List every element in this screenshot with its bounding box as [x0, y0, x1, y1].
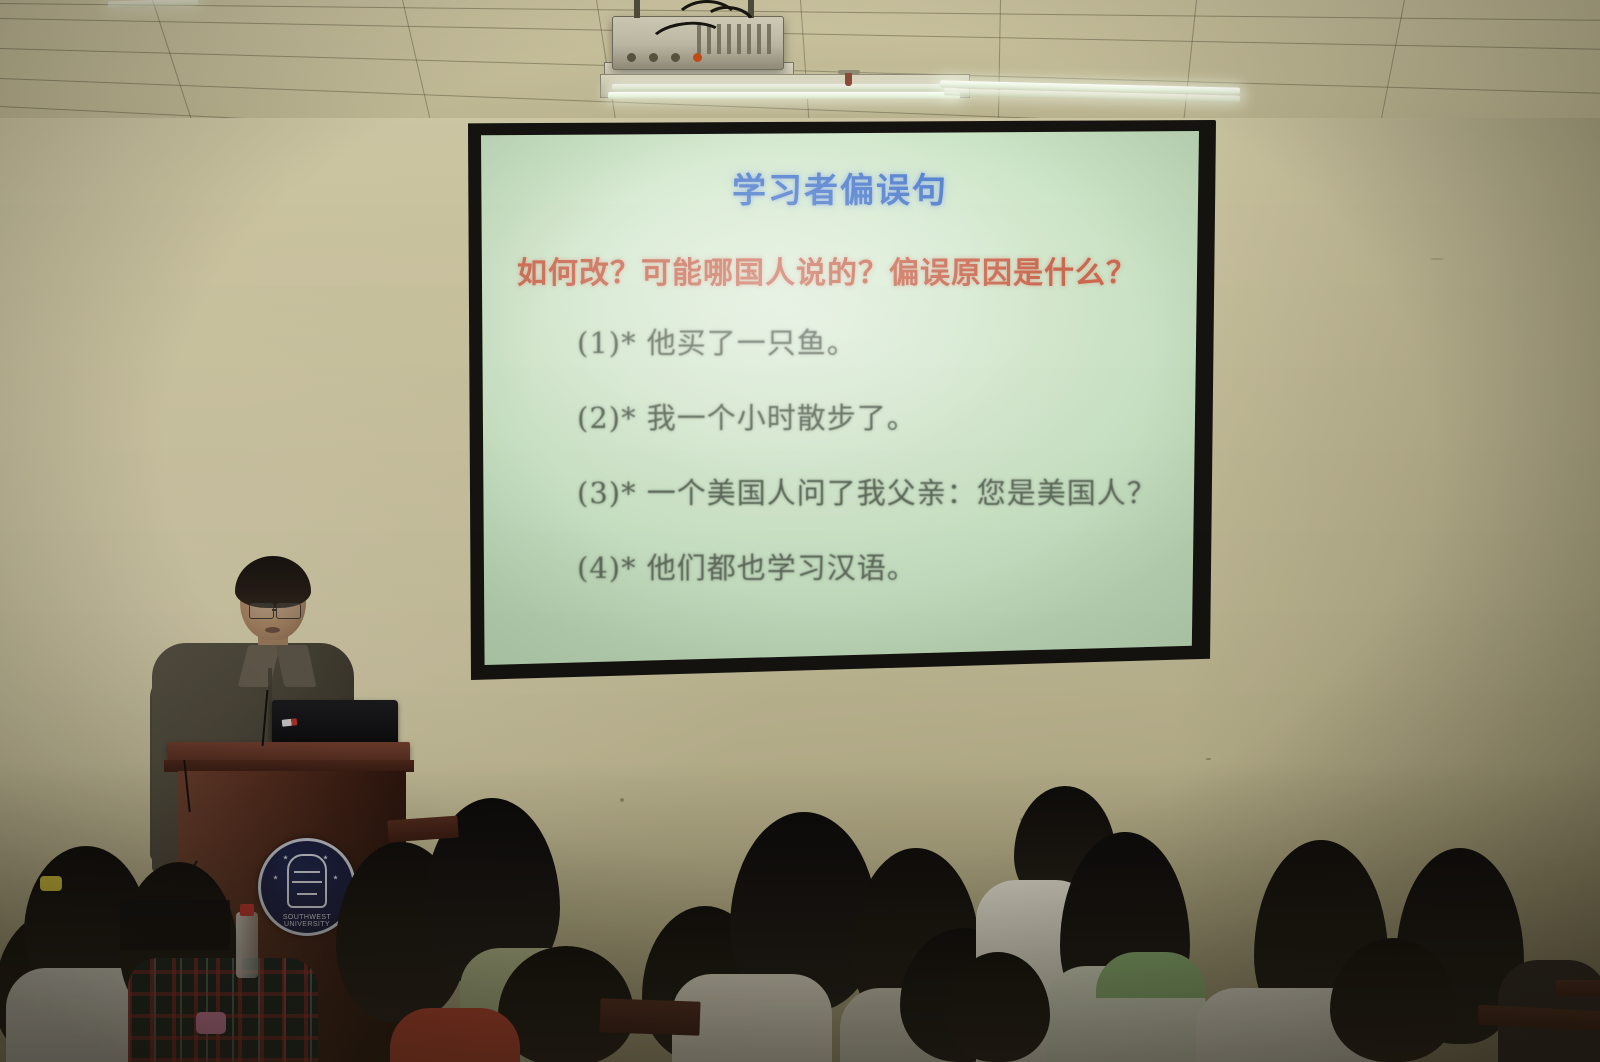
projector-rod-left — [634, 0, 640, 18]
glasses-lens-right — [276, 603, 301, 619]
ceiling-panel — [0, 0, 1600, 132]
glasses-bridge — [272, 609, 276, 611]
fluorescent-light-tube-2 — [612, 84, 956, 91]
slide-line-1: (1)* 他买了一只鱼。 — [577, 320, 1173, 362]
slide-title: 学习者偏误句 — [507, 163, 1173, 212]
projection-screen: 学习者偏误句 如何改？可能哪国人说的？偏误原因是什么？ (1)* 他买了一只鱼。… — [481, 131, 1199, 665]
room-floor-shading — [0, 762, 1600, 1062]
slide-line-2: (2)* 我一个小时散步了。 — [577, 395, 1173, 437]
fire-sprinkler-icon — [845, 73, 852, 86]
slide-line-3: (3)* 一个美国人问了我父亲：您是美国人？ — [577, 470, 1173, 512]
slide-line-4: (4)* 他们都也学习汉语。 — [577, 545, 1173, 587]
slide-body-lines: (1)* 他买了一只鱼。 (2)* 我一个小时散步了。 (3)* 一个美国人问了… — [507, 320, 1173, 587]
slide-subtitle: 如何改？可能哪国人说的？偏误原因是什么？ — [507, 248, 1173, 292]
lecture-hall-photo: 学习者偏误句 如何改？可能哪国人说的？偏误原因是什么？ (1)* 他买了一只鱼。… — [0, 0, 1600, 1062]
presenter-mouth — [265, 627, 280, 633]
fluorescent-light-tube-1 — [608, 92, 960, 99]
lectern-top — [168, 742, 410, 762]
glasses-icon — [249, 603, 274, 619]
presentation-slide: 学习者偏误句 如何改？可能哪国人说的？偏误原因是什么？ (1)* 他买了一只鱼。… — [481, 131, 1199, 665]
